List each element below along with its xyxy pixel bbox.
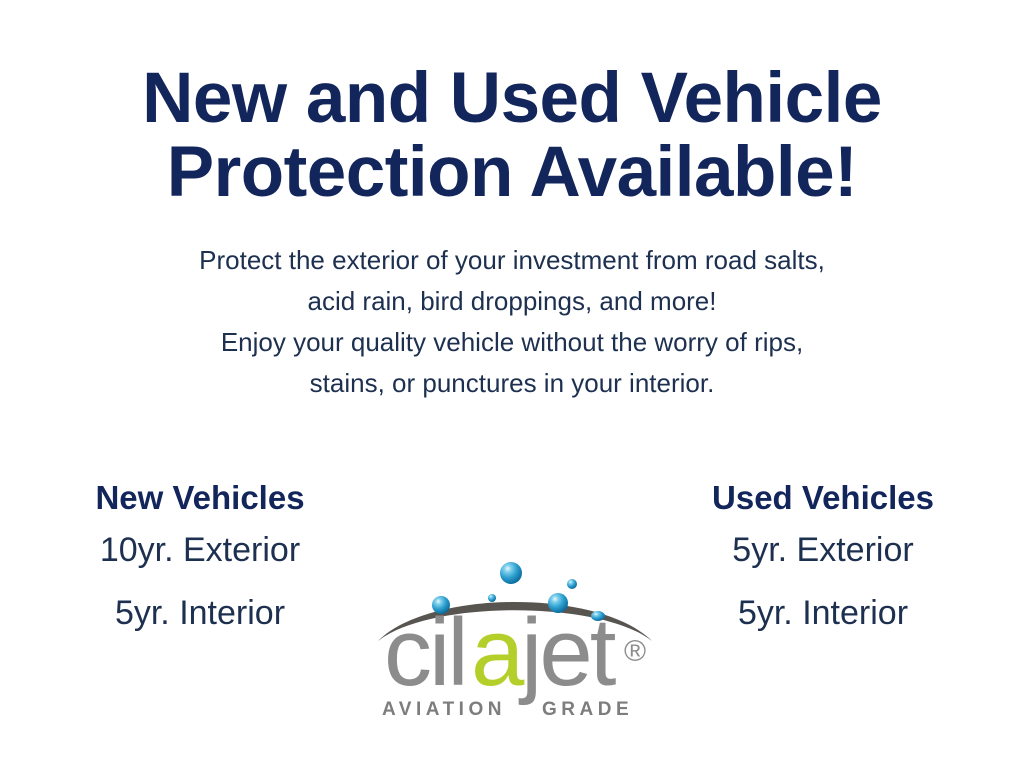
new-vehicles-column: New Vehicles 10yr. Exterior 5yr. Interio… — [20, 477, 380, 645]
description-line-4: stains, or punctures in your interior. — [0, 363, 1024, 404]
logo-tagline-left: AVIATION — [382, 699, 506, 720]
page-title: New and Used Vehicle Protection Availabl… — [0, 62, 1024, 210]
cilajet-logo: cil a jet ® AVIATION GRADE — [370, 553, 660, 728]
logo-registered-icon: ® — [624, 635, 646, 668]
logo-wordmark-accent: a — [471, 599, 525, 706]
description-line-2: acid rain, bird droppings, and more! — [0, 281, 1024, 322]
bubble-icon-2 — [567, 579, 577, 589]
new-vehicles-heading: New Vehicles — [20, 477, 380, 519]
used-vehicles-item-exterior: 5yr. Exterior — [643, 519, 1003, 582]
used-vehicles-heading: Used Vehicles — [643, 477, 1003, 519]
title-line-2: Protection Available! — [0, 136, 1024, 210]
logo-wordmark-part1: cil — [384, 599, 466, 706]
new-vehicles-item-exterior: 10yr. Exterior — [20, 519, 380, 582]
used-vehicles-column: Used Vehicles 5yr. Exterior 5yr. Interio… — [643, 477, 1003, 645]
logo-tagline-right: GRADE — [542, 699, 633, 720]
slide-canvas: New and Used Vehicle Protection Availabl… — [0, 0, 1024, 768]
title-line-1: New and Used Vehicle — [0, 62, 1024, 136]
bubble-icon-1 — [500, 562, 522, 584]
new-vehicles-item-interior: 5yr. Interior — [20, 582, 380, 645]
used-vehicles-item-interior: 5yr. Interior — [643, 582, 1003, 645]
description-line-3: Enjoy your quality vehicle without the w… — [0, 322, 1024, 363]
logo-wordmark-part2: jet — [518, 599, 616, 706]
description-line-1: Protect the exterior of your investment … — [0, 240, 1024, 281]
description-paragraph: Protect the exterior of your investment … — [0, 240, 1024, 404]
